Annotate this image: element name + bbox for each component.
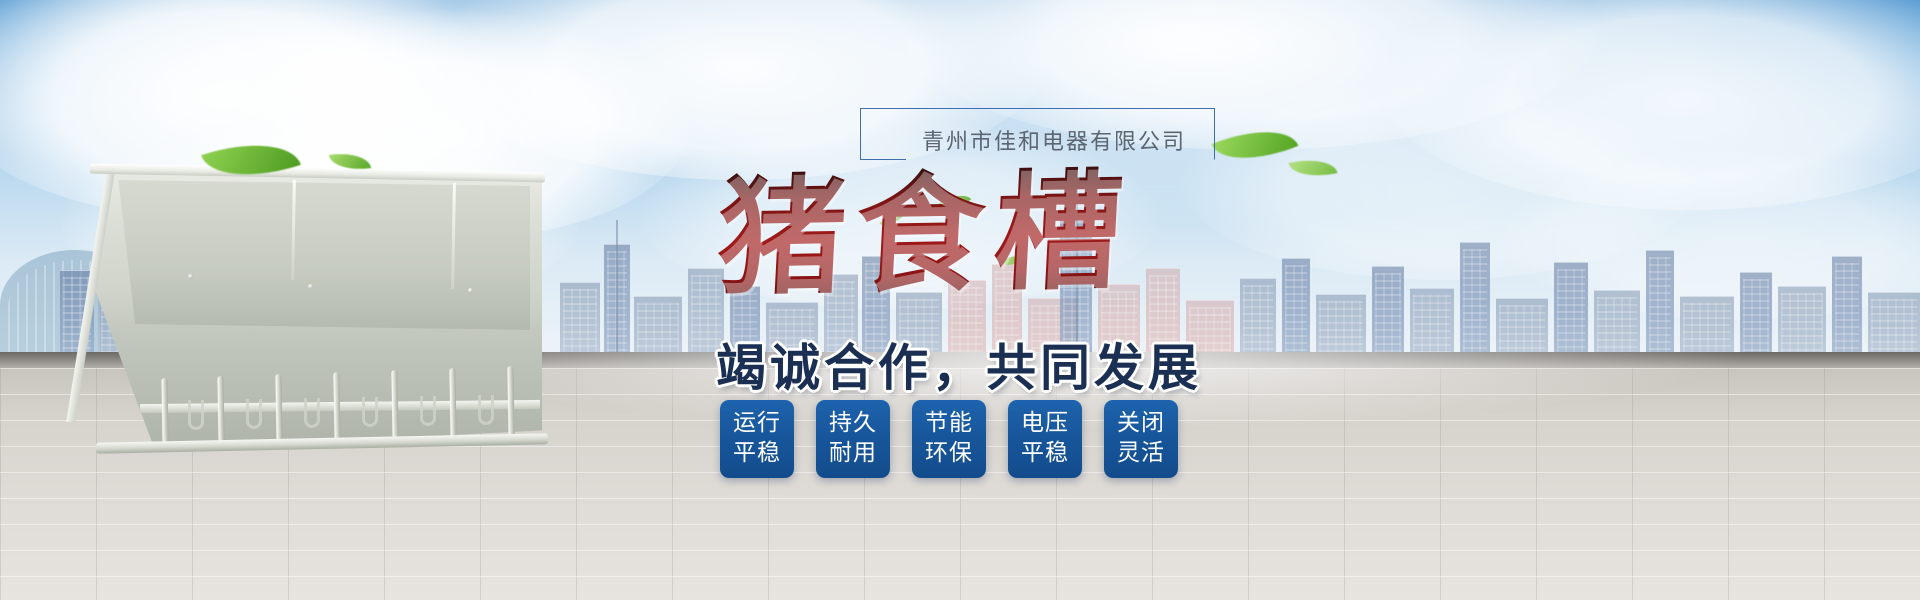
building bbox=[634, 296, 682, 360]
trough-divider bbox=[217, 376, 224, 444]
feature-badge-line1: 电压 bbox=[1021, 409, 1069, 439]
feature-badge-line2: 平稳 bbox=[733, 439, 781, 469]
building bbox=[1460, 242, 1490, 360]
building bbox=[1410, 288, 1454, 360]
subtitle-slogan: 竭诚合作，共同发展 bbox=[716, 328, 1202, 400]
feature-badge-line2: 耐用 bbox=[829, 439, 877, 469]
feature-badge-line1: 运行 bbox=[733, 409, 781, 439]
building bbox=[1646, 250, 1674, 360]
building bbox=[1594, 290, 1640, 360]
trough-inner-wall bbox=[110, 180, 530, 330]
trough-divider bbox=[449, 368, 456, 441]
building bbox=[1832, 256, 1862, 360]
trough-bolt bbox=[308, 284, 313, 289]
building bbox=[1740, 272, 1772, 360]
product-image-pig-feeding-trough bbox=[70, 150, 590, 480]
trough-feed-loop bbox=[246, 399, 262, 429]
building bbox=[1240, 278, 1276, 360]
building bbox=[1778, 286, 1826, 360]
feature-badge-line2: 平稳 bbox=[1021, 439, 1069, 469]
feature-badge-line1: 节能 bbox=[925, 409, 973, 439]
page-title: 猪食槽 bbox=[714, 164, 1136, 306]
building bbox=[1372, 266, 1404, 360]
building bbox=[1554, 262, 1588, 360]
feature-badge-line1: 关闭 bbox=[1117, 409, 1165, 439]
trough-feed-loop bbox=[420, 396, 436, 426]
building bbox=[1680, 296, 1734, 360]
antenna-spire bbox=[616, 220, 618, 360]
promo-banner: 青州市佳和电器有限公司 猪食槽 竭诚合作，共同发展 运行 平稳 持久 耐用 节能… bbox=[0, 0, 1920, 600]
feature-badge[interactable]: 持久 耐用 bbox=[816, 400, 890, 478]
building bbox=[1282, 258, 1310, 360]
trough-feed-loop bbox=[362, 397, 378, 427]
feature-badge[interactable]: 电压 平稳 bbox=[1008, 400, 1082, 478]
trough-divider bbox=[275, 374, 282, 444]
building bbox=[1496, 298, 1548, 360]
feature-badge-line1: 持久 bbox=[829, 409, 877, 439]
feature-badge-line2: 环保 bbox=[925, 439, 973, 469]
trough-divider bbox=[507, 366, 514, 440]
trough-bolt bbox=[468, 288, 473, 293]
trough-divider bbox=[391, 370, 398, 442]
feature-badge[interactable]: 运行 平稳 bbox=[720, 400, 794, 478]
feature-badge-line2: 灵活 bbox=[1117, 439, 1165, 469]
trough-feed-loop bbox=[304, 398, 320, 428]
feature-badge[interactable]: 节能 环保 bbox=[912, 400, 986, 478]
feature-badge-list: 运行 平稳 持久 耐用 节能 环保 电压 平稳 关闭 灵活 bbox=[720, 400, 1178, 478]
trough-bolt bbox=[188, 274, 193, 279]
trough-divider bbox=[333, 372, 340, 443]
trough-feed-loop bbox=[188, 400, 204, 430]
building bbox=[1868, 292, 1920, 360]
trough-feed-loop bbox=[478, 395, 494, 425]
company-name: 青州市佳和电器有限公司 bbox=[922, 124, 1186, 156]
building bbox=[1316, 294, 1366, 360]
feature-badge[interactable]: 关闭 灵活 bbox=[1104, 400, 1178, 478]
trough-divider bbox=[161, 378, 168, 444]
